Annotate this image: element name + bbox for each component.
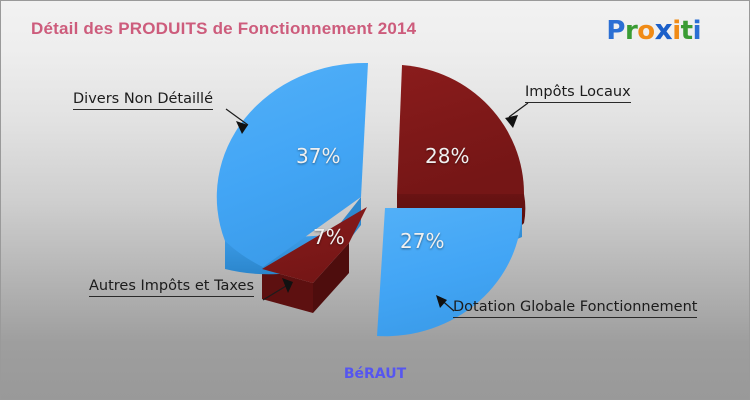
slice-top-impots-locaux[interactable] <box>397 65 524 194</box>
arrow-impots <box>505 115 518 128</box>
callout-label-autres-impots: Autres Impôts et Taxes <box>89 278 254 297</box>
callout-label-impots-locaux: Impôts Locaux <box>525 84 631 103</box>
pie-chart-svg <box>1 1 750 400</box>
chart-canvas: Détail des PRODUITS de Fonctionnement 20… <box>0 0 750 400</box>
callout-label-divers-non-detaille: Divers Non Détaillé <box>73 91 213 110</box>
callout-label-dotation-globale: Dotation Globale Fonctionnement <box>453 299 697 318</box>
pie-chart: 28% 27% 7% 37% Divers Non Détaillé Impôt… <box>1 1 750 400</box>
commune-name: BéRAUT <box>1 366 749 382</box>
